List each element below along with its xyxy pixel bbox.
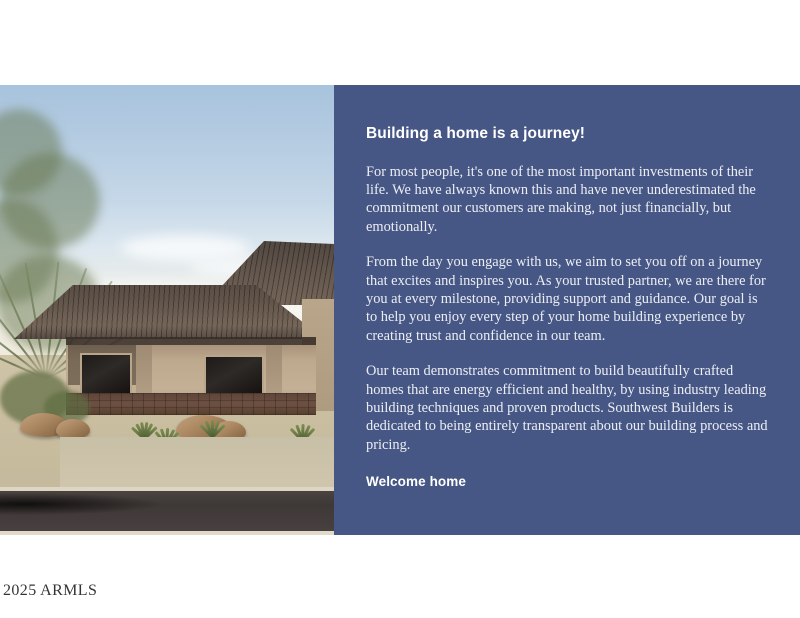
panel-paragraph-1: For most people, it's one of the most im… (366, 163, 770, 237)
mls-watermark: 2025 ARMLS (3, 582, 97, 600)
panel-paragraph-3: Our team demonstrates commitment to buil… (366, 362, 770, 454)
panel-headline: Building a home is a journey! (366, 125, 770, 144)
front-window (204, 355, 264, 395)
home-exterior-photo (0, 85, 334, 535)
boulder (56, 419, 90, 439)
stone-veneer-wainscot (66, 393, 316, 415)
slide-canvas: Building a home is a journey! For most p… (0, 0, 800, 618)
marketing-card: Building a home is a journey! For most p… (0, 85, 800, 535)
asphalt-street (0, 491, 334, 531)
panel-closing-line: Welcome home (366, 474, 770, 489)
panel-paragraph-2: From the day you engage with us, we aim … (366, 253, 770, 345)
copy-panel: Building a home is a journey! For most p… (334, 85, 800, 535)
cloud-shape (120, 235, 250, 261)
paved-driveway (60, 437, 334, 489)
agave-plant (286, 407, 316, 441)
front-window (80, 353, 132, 395)
agave-plant (196, 403, 226, 437)
